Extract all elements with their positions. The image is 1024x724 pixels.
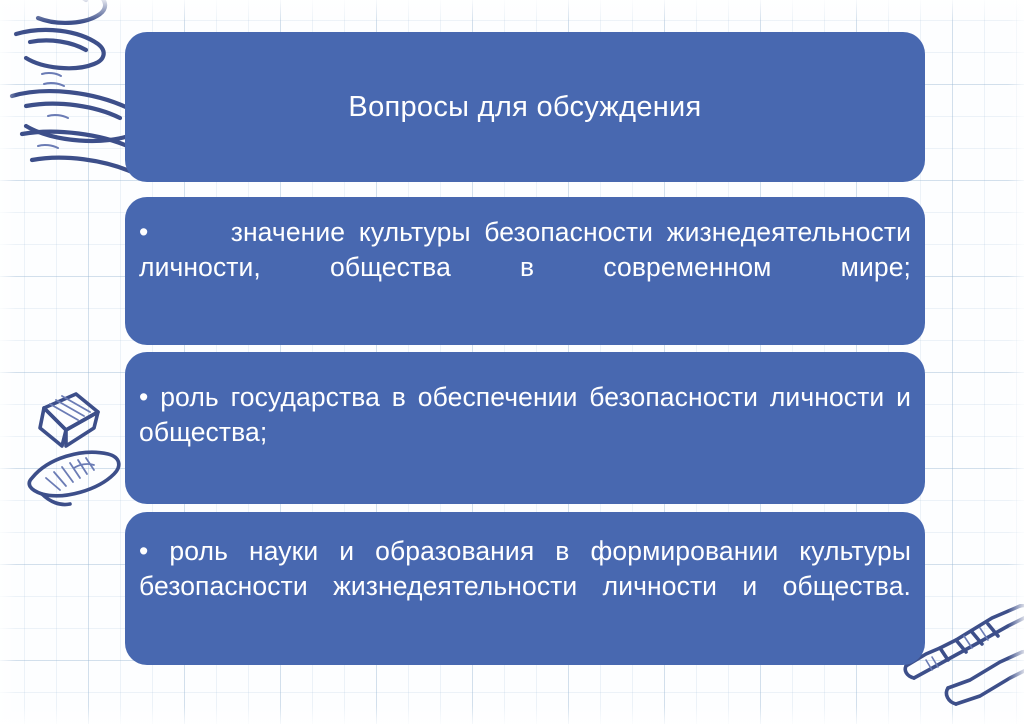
page-title: Вопросы для обсуждения: [348, 89, 701, 125]
bullet-item-3: • роль науки и образования в формировани…: [139, 534, 911, 640]
bullet-text-3: роль науки и образования в формировании …: [139, 536, 911, 601]
title-panel: Вопросы для обсуждения: [125, 32, 925, 182]
bullet-text-1: значение культуры безопасности жизнедеят…: [139, 217, 911, 282]
bullet-text-2: роль государства в обеспечении безопасно…: [139, 382, 911, 447]
bullet-marker-3: •: [139, 536, 148, 566]
bullet-marker-2: •: [139, 382, 148, 412]
bullet-item-2: • роль государства в обеспечении безопас…: [139, 380, 911, 486]
bullet-item-1: • значение культуры безопасности жизнеде…: [139, 215, 911, 321]
bullet-panel-1: • значение культуры безопасности жизнеде…: [125, 197, 925, 345]
bullet-marker-1: •: [139, 217, 148, 247]
bullet-panel-2: • роль государства в обеспечении безопас…: [125, 352, 925, 504]
bullet-panel-3: • роль науки и образования в формировани…: [125, 512, 925, 665]
slide-canvas: Вопросы для обсуждения • значение культу…: [0, 0, 1024, 724]
